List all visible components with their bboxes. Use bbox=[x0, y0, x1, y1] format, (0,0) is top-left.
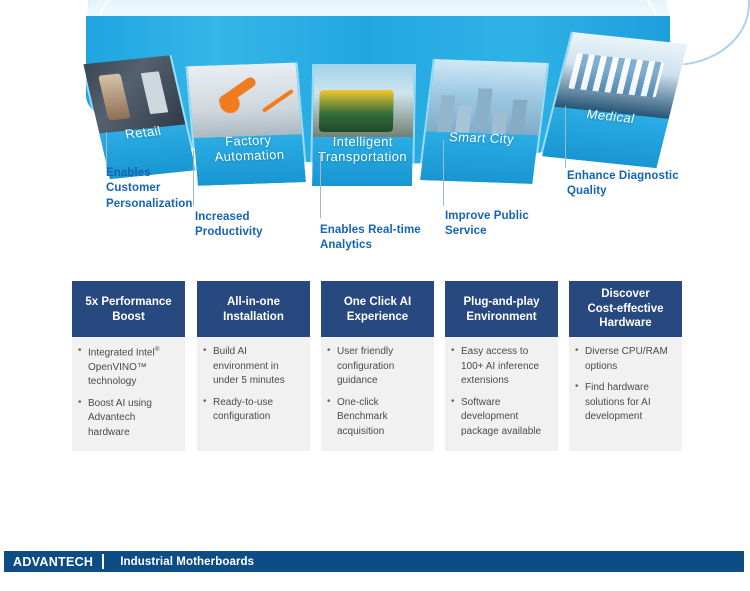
feature-card-body: Diverse CPU/RAM options Find hardware so… bbox=[569, 337, 682, 440]
list-item: User friendly configuration guidance bbox=[327, 345, 427, 389]
banner-segment-label-factory-automation: Factory Automation bbox=[194, 132, 305, 166]
feature-card-title: 5x Performance Boost bbox=[72, 281, 185, 337]
hero-banner: Retail Factory Automation Intelligent Tr… bbox=[0, 0, 750, 262]
factory-photo bbox=[187, 63, 302, 141]
feature-bullet-list: Integrated Intel® OpenVINO™ technology B… bbox=[78, 345, 178, 440]
feature-card-cost-effective-hardware[interactable]: Discover Cost-effective Hardware Diverse… bbox=[569, 281, 682, 451]
feature-card-title: All-in-one Installation bbox=[197, 281, 310, 337]
caption-city: Improve Public Service bbox=[445, 209, 529, 240]
caption-retail: Enables Customer Personalization bbox=[106, 166, 193, 212]
connector-line-medical bbox=[565, 106, 566, 168]
banner-segment-label-intelligent-transportation: Intelligent Transportation bbox=[312, 135, 413, 165]
banner-segment-smart-city[interactable]: Smart City bbox=[418, 59, 549, 184]
feature-card-performance[interactable]: 5x Performance Boost Integrated Intel® O… bbox=[72, 281, 185, 451]
feature-card-body: Integrated Intel® OpenVINO™ technology B… bbox=[72, 337, 185, 455]
banner-segment-intelligent-transportation[interactable]: Intelligent Transportation bbox=[310, 64, 416, 186]
feature-bullet-list: Diverse CPU/RAM options Find hardware so… bbox=[575, 345, 675, 425]
caption-transport: Enables Real-time Analytics bbox=[320, 223, 421, 254]
banner-segment-factory-automation[interactable]: Factory Automation bbox=[185, 62, 308, 185]
advantech-logo: ADVANTECH bbox=[4, 555, 102, 569]
connector-line-city bbox=[443, 140, 444, 206]
feature-card-row: 5x Performance Boost Integrated Intel® O… bbox=[72, 281, 678, 451]
connector-line-transport bbox=[320, 152, 321, 218]
feature-card-title: One Click AI Experience bbox=[321, 281, 434, 337]
feature-card-installation[interactable]: All-in-one Installation Build AI environ… bbox=[197, 281, 310, 451]
list-item: Boost AI using Advantech hardware bbox=[78, 397, 178, 441]
feature-bullet-list: Build AI environment in under 5 minutes … bbox=[203, 345, 303, 425]
feature-card-body: Easy access to 100+ AI inference extensi… bbox=[445, 337, 558, 454]
caption-factory: Increased Productivity bbox=[195, 210, 263, 241]
caption-medical: Enhance Diagnostic Quality bbox=[567, 169, 679, 200]
transportation-photo bbox=[313, 64, 414, 140]
feature-card-title: Plug-and-play Environment bbox=[445, 281, 558, 337]
registered-icon: ® bbox=[155, 346, 160, 353]
feature-bullet-list: User friendly configuration guidance One… bbox=[327, 345, 427, 439]
feature-bullet-list: Easy access to 100+ AI inference extensi… bbox=[451, 345, 551, 439]
feature-card-plug-and-play[interactable]: Plug-and-play Environment Easy access to… bbox=[445, 281, 558, 451]
list-item: Find hardware solutions for AI developme… bbox=[575, 381, 675, 425]
list-item: Diverse CPU/RAM options bbox=[575, 345, 675, 374]
feature-card-body: User friendly configuration guidance One… bbox=[321, 337, 434, 454]
list-item: Integrated Intel® OpenVINO™ technology bbox=[78, 345, 178, 390]
connector-line-retail bbox=[106, 132, 107, 168]
list-item: Easy access to 100+ AI inference extensi… bbox=[451, 345, 551, 389]
list-item: Software development package available bbox=[451, 396, 551, 440]
list-item: One-click Benchmark acquisition bbox=[327, 396, 427, 440]
list-item: Build AI environment in under 5 minutes bbox=[203, 345, 303, 389]
footer-title: Industrial Motherboards bbox=[104, 556, 254, 568]
smart-city-photo bbox=[426, 59, 548, 138]
feature-card-body: Build AI environment in under 5 minutes … bbox=[197, 337, 310, 440]
feature-card-title: Discover Cost-effective Hardware bbox=[569, 281, 682, 337]
feature-card-one-click-ai[interactable]: One Click AI Experience User friendly co… bbox=[321, 281, 434, 451]
connector-line-factory bbox=[193, 150, 194, 206]
footer-bar: ADVANTECH Industrial Motherboards bbox=[4, 551, 744, 572]
list-item: Ready-to-use configuration bbox=[203, 396, 303, 425]
